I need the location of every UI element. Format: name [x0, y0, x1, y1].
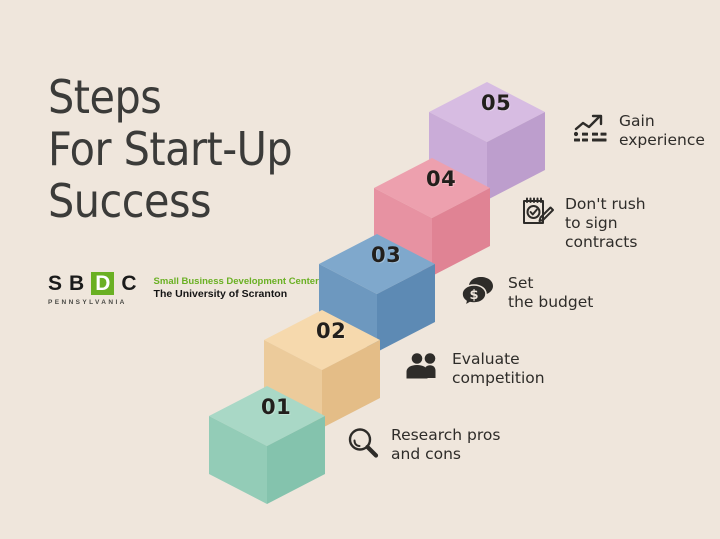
people-icon — [405, 348, 443, 386]
page-title: Steps For Start-Up Success — [48, 72, 348, 228]
logo-wordmark: Small Business Development Center The Un… — [154, 272, 319, 301]
infographic-canvas: Steps For Start-Up Success S B D C PENNS… — [0, 0, 720, 539]
logo-letter-d: D — [91, 272, 114, 295]
step-number-05: 05 — [481, 91, 511, 115]
step-label-text-01: Research pros and cons — [391, 424, 500, 464]
logo-tagline: Small Business Development Center — [154, 276, 319, 288]
step-number-03: 03 — [371, 243, 401, 267]
title-line-1: Steps — [48, 72, 348, 124]
logo-letter-c: C — [121, 273, 136, 294]
logo-letter-b: B — [69, 273, 84, 294]
logo-letter-s: S — [48, 273, 62, 294]
logo-state: PENNSYLVANIA — [48, 299, 127, 306]
step-label-03[interactable]: $ Set the budget — [461, 272, 593, 312]
step-number-01: 01 — [261, 395, 291, 419]
svg-text:$: $ — [469, 288, 478, 303]
growth-chart-icon — [572, 110, 610, 148]
step-label-05[interactable]: Gain experience — [572, 110, 705, 150]
step-label-02[interactable]: Evaluate competition — [405, 348, 545, 388]
step-label-text-05: Gain experience — [619, 110, 705, 150]
step-label-text-02: Evaluate competition — [452, 348, 545, 388]
step-number-02: 02 — [316, 319, 346, 343]
money-chat-icon: $ — [461, 272, 499, 310]
step-number-04: 04 — [426, 167, 456, 191]
logo-mark: S B D C PENNSYLVANIA — [48, 272, 144, 306]
step-label-text-03: Set the budget — [508, 272, 593, 312]
step-label-text-04: Don't rush to sign contracts — [565, 193, 646, 252]
logo-letters: S B D C — [48, 272, 144, 295]
sbdc-logo: S B D C PENNSYLVANIA Small Business Deve… — [48, 272, 319, 306]
contract-pencil-icon — [518, 193, 556, 231]
step-label-01[interactable]: Research pros and cons — [344, 424, 500, 464]
title-line-2: For Start-Up — [48, 124, 348, 176]
step-label-04[interactable]: Don't rush to sign contracts — [518, 193, 646, 252]
magnifier-icon — [344, 424, 382, 462]
step-block-01[interactable]: 01 — [209, 386, 325, 506]
title-line-3: Success — [48, 176, 348, 228]
logo-university: The University of Scranton — [154, 288, 319, 301]
